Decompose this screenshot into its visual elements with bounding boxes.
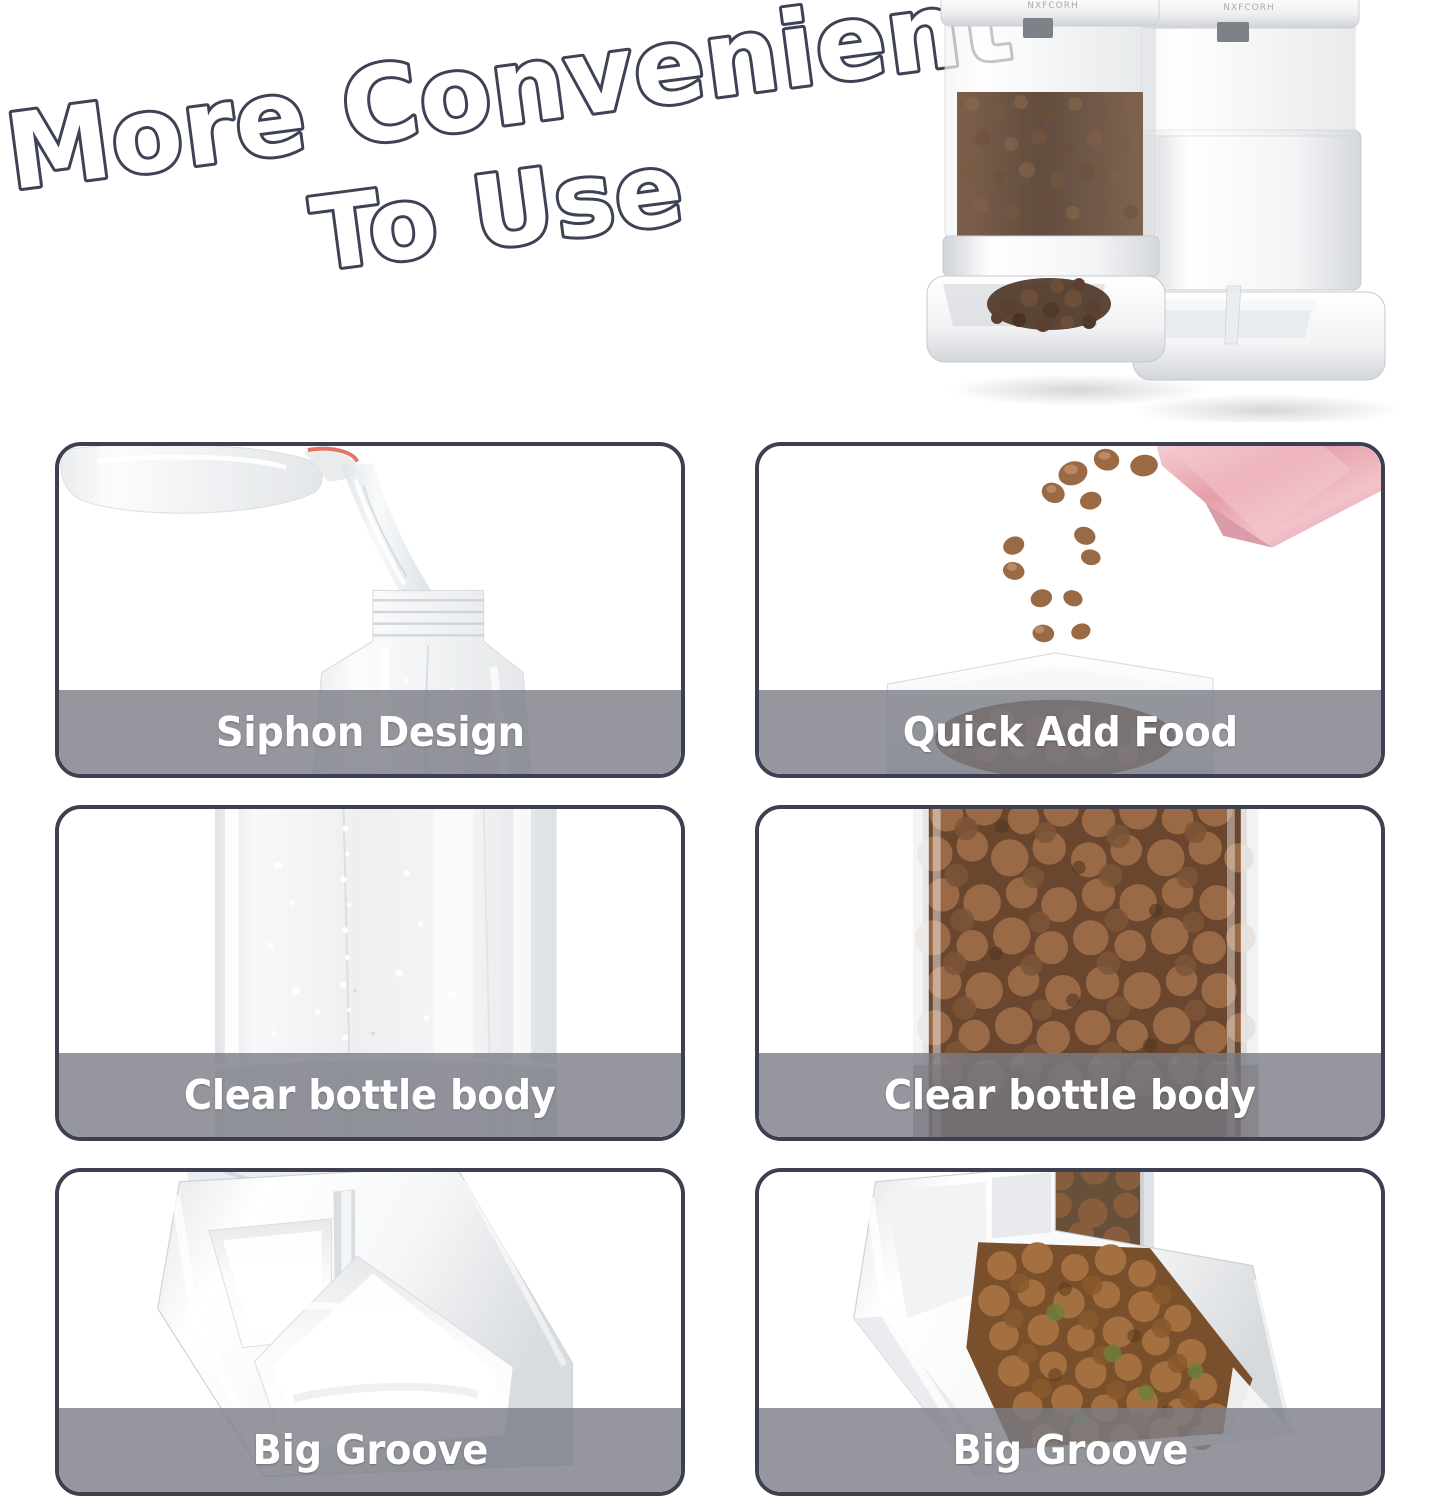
panel-caption: Clear bottle body xyxy=(884,1071,1256,1119)
hero-brand-right: NXFCORH xyxy=(1223,3,1274,13)
caption-band: Siphon Design xyxy=(59,690,681,774)
panel-big-groove-food[interactable]: Big Groove xyxy=(755,1168,1385,1496)
panel-caption: Siphon Design xyxy=(216,708,525,756)
panel-big-groove-water[interactable]: Big Groove xyxy=(55,1168,685,1496)
hero-food-dispenser: NXFCORH xyxy=(927,0,1165,362)
page-title: More Convenient To Use xyxy=(0,0,929,359)
infographic-page: More Convenient To Use xyxy=(0,0,1437,1500)
panel-caption: Clear bottle body xyxy=(184,1071,556,1119)
panel-caption: Big Groove xyxy=(952,1426,1188,1474)
feature-panel-grid: Siphon Design xyxy=(55,442,1385,1496)
caption-band: Clear bottle body xyxy=(59,1053,681,1137)
panel-quick-add-food[interactable]: Quick Add Food xyxy=(755,442,1385,778)
panel-clear-bottle-body-food[interactable]: Clear bottle body xyxy=(755,805,1385,1141)
hero-brand-left: NXFCORH xyxy=(1027,1,1078,11)
headline-line-1: More Convenient xyxy=(0,0,1019,214)
hero-water-dispenser: NXFCORH xyxy=(1133,0,1385,380)
caption-band: Big Groove xyxy=(59,1408,681,1492)
caption-band: Clear bottle body xyxy=(759,1053,1381,1137)
hero-product-image: NXFCORH xyxy=(897,0,1437,422)
caption-band: Quick Add Food xyxy=(759,690,1381,774)
panel-clear-bottle-body-water[interactable]: Clear bottle body xyxy=(55,805,685,1141)
panel-caption: Big Groove xyxy=(252,1426,488,1474)
headline-line-2: To Use xyxy=(305,129,690,294)
panel-siphon-design[interactable]: Siphon Design xyxy=(55,442,685,778)
panel-caption: Quick Add Food xyxy=(902,708,1237,756)
caption-band: Big Groove xyxy=(759,1408,1381,1492)
